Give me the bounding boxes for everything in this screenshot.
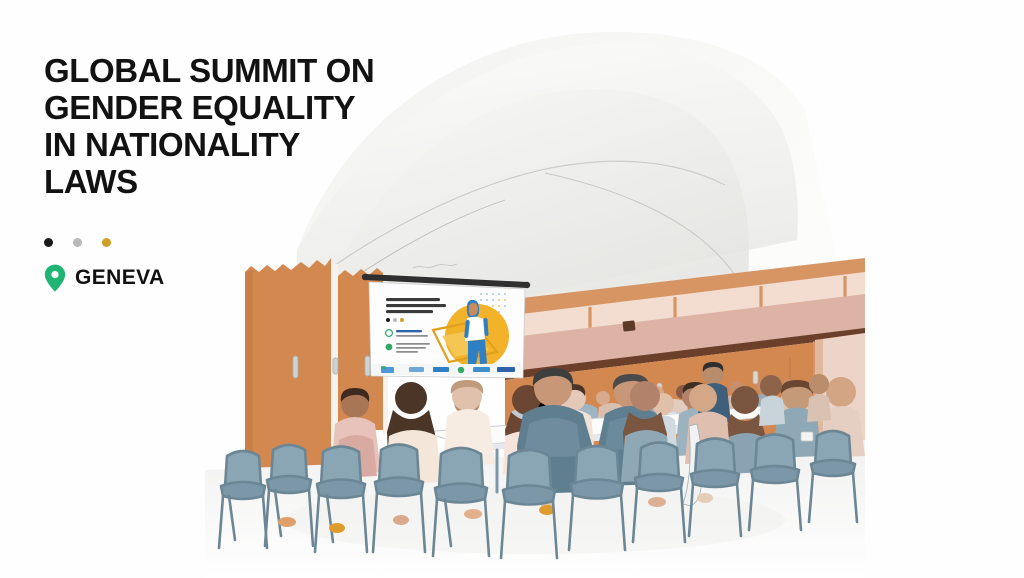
projection-screen-group (362, 274, 530, 378)
location-label: GENEVA (75, 266, 165, 290)
dot-grey (73, 238, 82, 247)
title-line-1: GLOBAL SUMMIT ON (44, 52, 424, 89)
title-line-2: GENDER EQUALITY (44, 89, 424, 126)
dot-black (44, 238, 53, 247)
map-pin-icon (44, 264, 66, 292)
person (807, 374, 831, 422)
text-block: GLOBAL SUMMIT ON GENDER EQUALITY IN NATI… (44, 52, 424, 200)
screen-mini-dots (386, 318, 404, 322)
presentation-slide: GLOBAL SUMMIT ON GENDER EQUALITY IN NATI… (0, 0, 1024, 578)
dot-gold (102, 238, 111, 247)
location-badge: GENEVA (44, 264, 165, 292)
decorative-dots (44, 238, 111, 247)
page-title: GLOBAL SUMMIT ON GENDER EQUALITY IN NATI… (44, 52, 424, 200)
title-line-4: LAWS (44, 163, 424, 200)
title-line-3: IN NATIONALITY (44, 126, 424, 163)
wall-vent (622, 320, 635, 331)
screen-logo-row (373, 364, 523, 376)
person (759, 375, 785, 426)
